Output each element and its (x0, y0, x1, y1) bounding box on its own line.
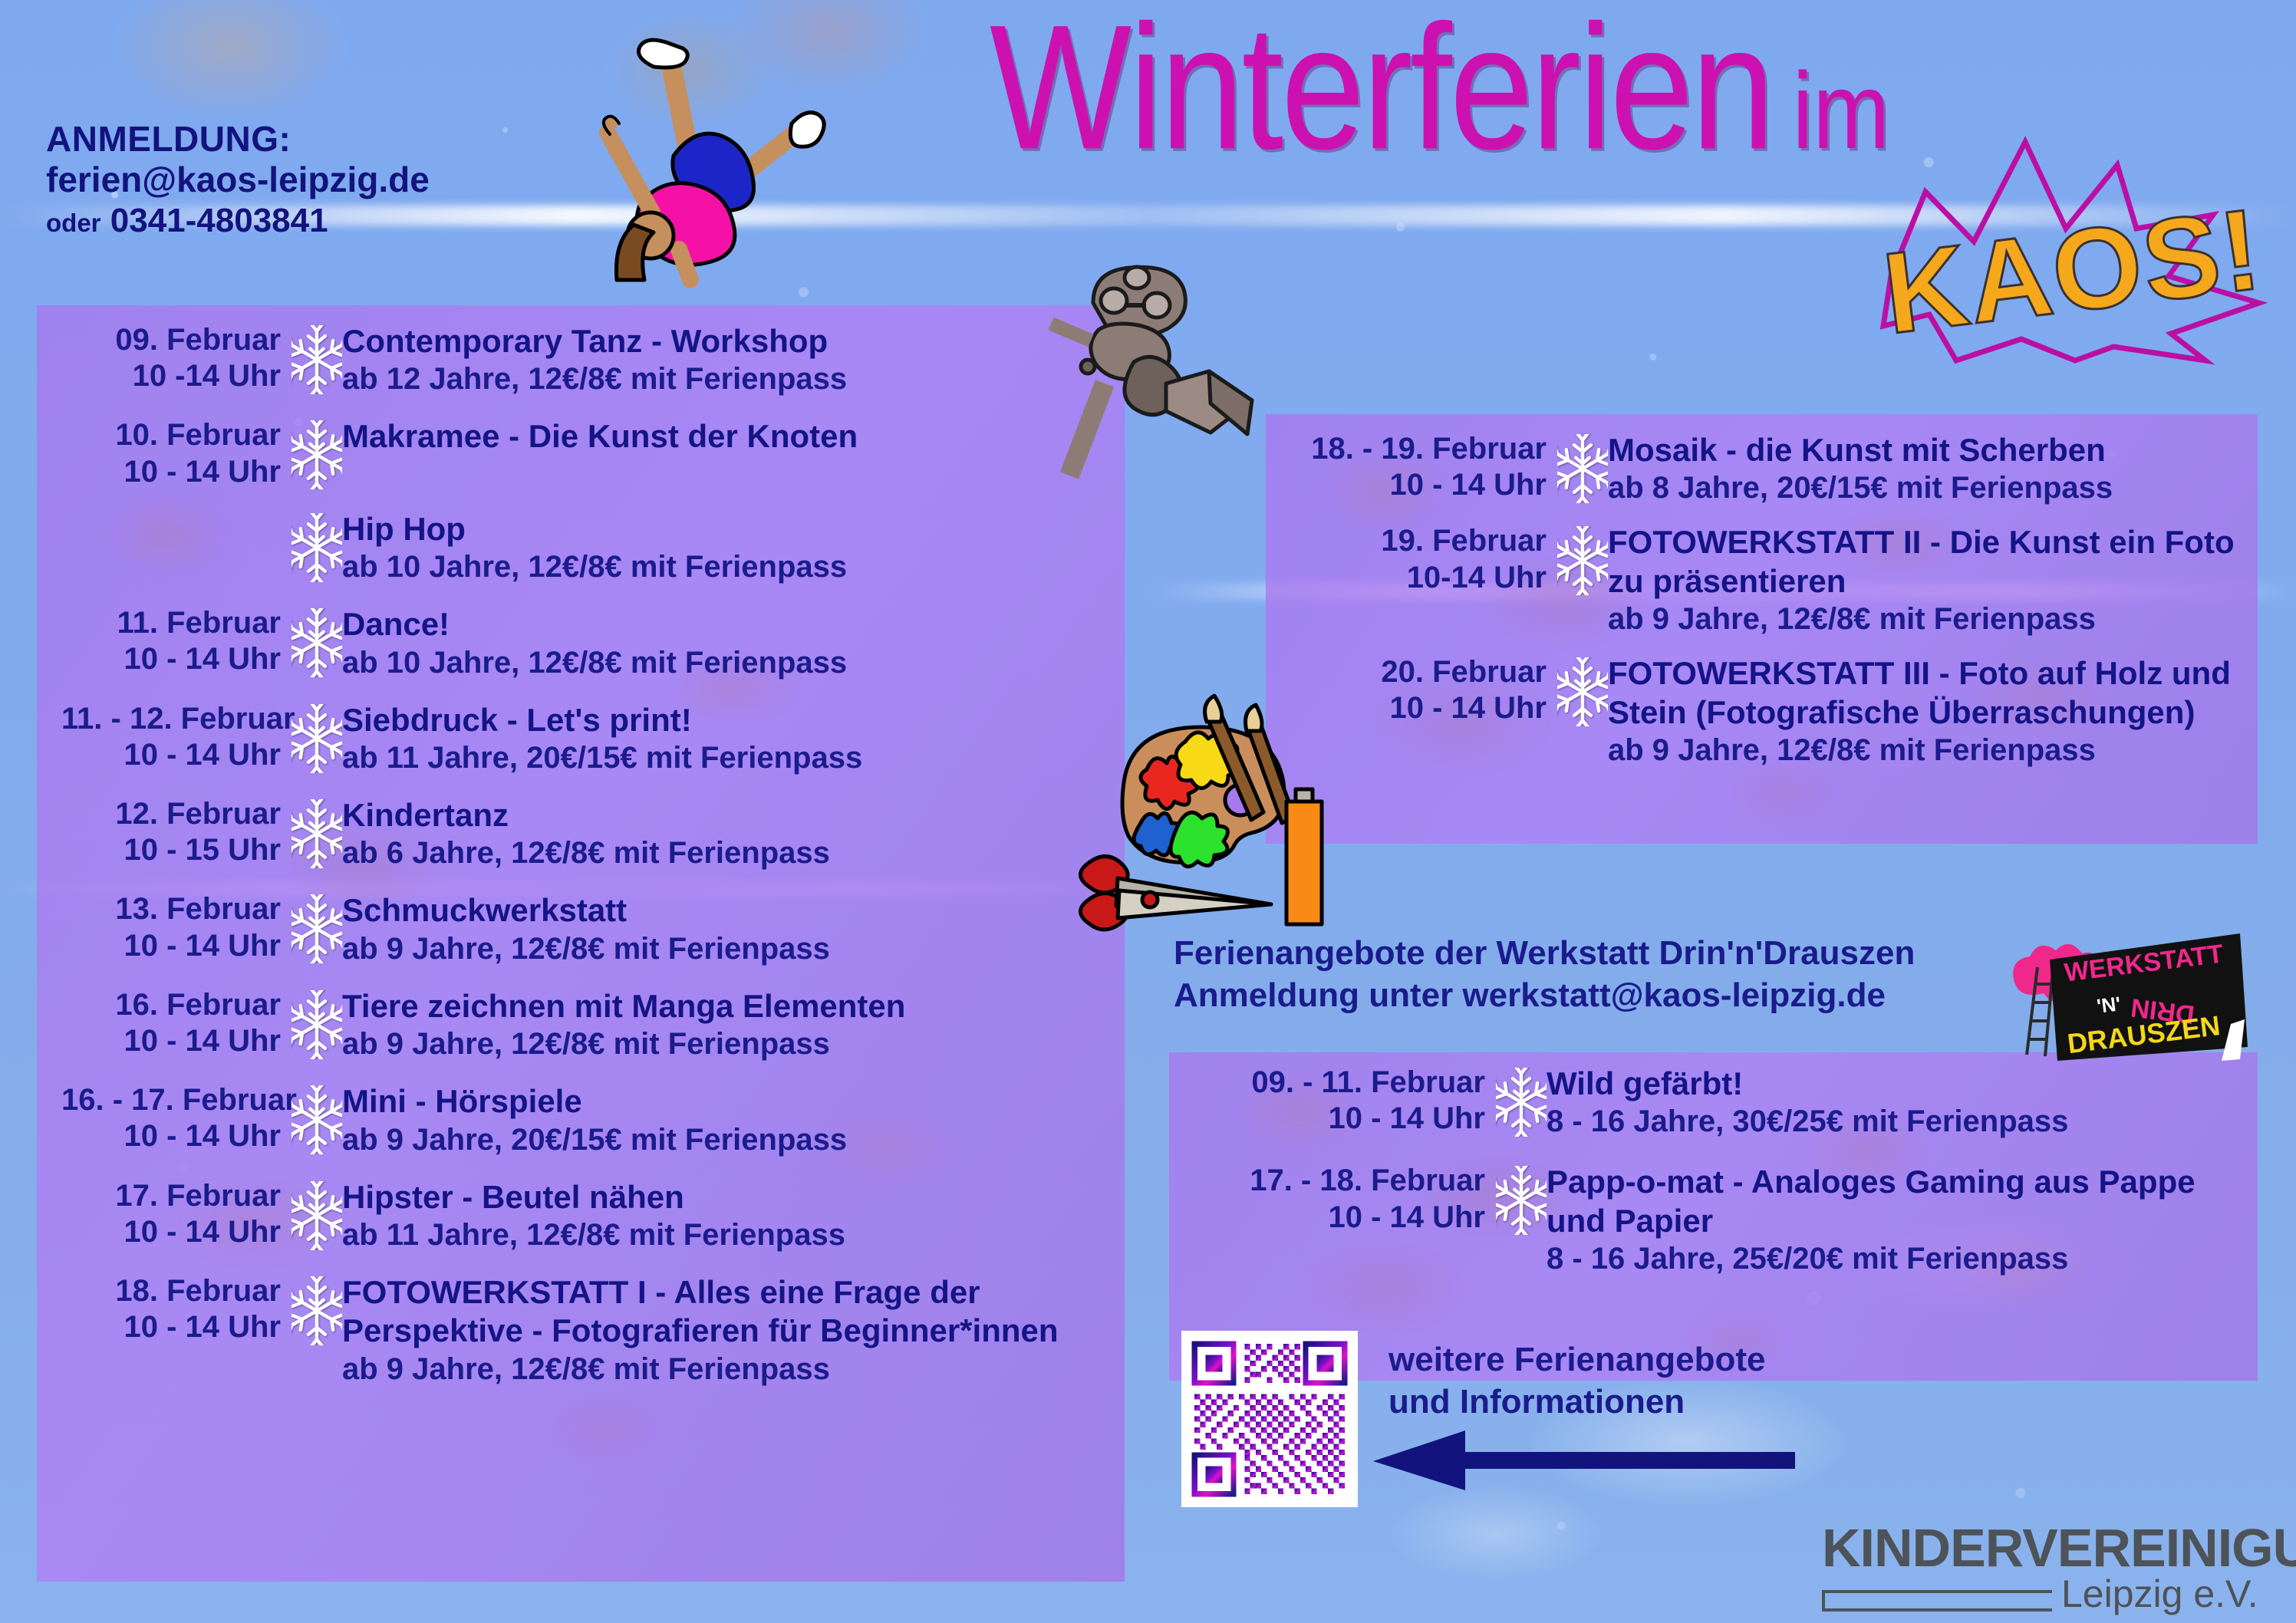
event-details: Mini - Hörspieleab 9 Jahre, 20€/15€ mit … (342, 1082, 1105, 1157)
event-time: 10 - 14 Uhr (61, 1023, 281, 1059)
event-time: 10 - 14 Uhr (1227, 1200, 1485, 1236)
event-time: 10 - 14 Uhr (61, 1214, 281, 1250)
event-date: 16. Februar (61, 987, 281, 1023)
event-details: Contemporary Tanz - Workshopab 12 Jahre,… (342, 322, 1105, 397)
event-when: 11. - 12. Februar10 - 14 Uhr (61, 701, 292, 773)
snowflake-icon (1496, 1068, 1547, 1137)
event-name: FOTOWERKSTATT III - Foto auf Holz und St… (1608, 654, 2255, 732)
kaos-logo-text: KAOS! (1877, 184, 2268, 358)
event-name: Siebdruck - Let's print! (342, 701, 1105, 739)
event-row: 13. Februar10 - 14 Uhr Schmuckwerkstatta… (61, 891, 1105, 966)
event-date: 18. - 19. Februar (1296, 431, 1547, 467)
qr-caption-line2: und Informationen (1388, 1381, 1765, 1423)
kindervereinigung-logo: KINDERVEREINIGUNG Leipzig e.V. (1822, 1523, 2282, 1611)
event-info: ab 9 Jahre, 12€/8€ mit Ferienpass (1608, 601, 2255, 637)
event-time: 10 - 14 Uhr (1296, 467, 1547, 503)
event-details: Hip Hopab 10 Jahre, 12€/8€ mit Ferienpas… (342, 510, 1105, 585)
werkstatt-logo-line3: 'N' (2096, 992, 2123, 1018)
event-info: ab 12 Jahre, 12€/8€ mit Ferienpass (342, 360, 1105, 397)
event-when: 20. Februar10 - 14 Uhr (1296, 654, 1557, 726)
event-info: 8 - 16 Jahre, 25€/20€ mit Ferienpass (1547, 1240, 2255, 1277)
arrow-left-icon (1365, 1423, 1795, 1492)
snowflake-icon (292, 799, 342, 868)
event-when: 09. Februar10 -14 Uhr (61, 322, 292, 394)
event-info: ab 9 Jahre, 20€/15€ mit Ferienpass (342, 1121, 1105, 1158)
event-when: 19. Februar10-14 Uhr (1296, 523, 1557, 595)
event-time: 10 -14 Uhr (61, 358, 281, 394)
event-date: 11. - 12. Februar (61, 701, 281, 737)
event-info: ab 9 Jahre, 12€/8€ mit Ferienpass (1608, 732, 2255, 769)
werkstatt-drin-n-drauszen-logo: WERKSTATT DRIN 'N' DRAUSZEN (2010, 932, 2248, 1062)
event-date: 16. - 17. Februar (61, 1082, 281, 1118)
event-row: 17. Februar10 - 14 Uhr Hipster - Beutel … (61, 1178, 1105, 1253)
event-info: ab 11 Jahre, 12€/8€ mit Ferienpass (342, 1216, 1105, 1253)
event-date: 09. - 11. Februar (1227, 1065, 1485, 1101)
kv-logo-bottom-row: Leipzig e.V. (1822, 1577, 2282, 1611)
event-name: Tiere zeichnen mit Manga Elementen (342, 987, 1105, 1025)
event-time: 10 - 14 Uhr (61, 1309, 281, 1345)
event-details: Tiere zeichnen mit Manga Elementenab 9 J… (342, 987, 1105, 1062)
snowflake-icon (292, 325, 342, 394)
event-row: 18. Februar10 - 14 Uhr FOTOWERKSTATT I -… (61, 1273, 1105, 1388)
snowflake-icon (292, 1181, 342, 1250)
snowflake-icon (292, 608, 342, 677)
event-date: 17. Februar (61, 1178, 281, 1214)
event-row: 16. Februar10 - 14 Uhr Tiere zeichnen mi… (61, 987, 1105, 1062)
event-name: Contemporary Tanz - Workshop (342, 322, 1105, 360)
snowflake-icon (1496, 1166, 1547, 1235)
event-time: 10 - 14 Uhr (61, 641, 281, 677)
snowflake-icon (292, 513, 342, 582)
event-info: ab 9 Jahre, 12€/8€ mit Ferienpass (342, 1025, 1105, 1062)
event-when: 13. Februar10 - 14 Uhr (61, 891, 292, 963)
event-date: 10. Februar (61, 417, 281, 453)
event-date: 09. Februar (61, 322, 281, 358)
event-details: Mosaik - die Kunst mit Scherbenab 8 Jahr… (1608, 431, 2255, 506)
event-time: 10 - 14 Uhr (61, 454, 281, 490)
snowflake-icon (292, 894, 342, 963)
event-row: 12. Februar10 - 15 Uhr Kindertanzab 6 Ja… (61, 796, 1105, 871)
event-time: 10 - 15 Uhr (61, 832, 281, 868)
qr-caption-line1: weitere Ferienangebote (1388, 1338, 1765, 1381)
right-bottom-event-list: 09. - 11. Februar10 - 14 Uhr Wild gefärb… (1227, 1065, 2255, 1300)
event-row: 11. Februar10 - 14 Uhr Dance!ab 10 Jahre… (61, 605, 1105, 680)
event-date: 12. Februar (61, 796, 281, 832)
snowflake-icon (292, 990, 342, 1059)
event-name: Papp-o-mat - Analoges Gaming aus Pappe u… (1547, 1163, 2255, 1240)
event-row: 11. - 12. Februar10 - 14 Uhr Siebdruck -… (61, 701, 1105, 776)
event-name: Mosaik - die Kunst mit Scherben (1608, 431, 2255, 469)
event-row: 09. Februar10 -14 Uhr Contemporary Tanz … (61, 322, 1105, 397)
werkstatt-heading-line2: Anmeldung unter werkstatt@kaos-leipzig.d… (1174, 974, 1915, 1016)
event-details: Siebdruck - Let's print!ab 11 Jahre, 20€… (342, 701, 1105, 776)
event-time: 10 - 14 Uhr (61, 1118, 281, 1154)
event-info: ab 10 Jahre, 12€/8€ mit Ferienpass (342, 644, 1105, 681)
event-date: 19. Februar (1296, 523, 1547, 559)
snowflake-icon (292, 1276, 342, 1345)
event-time: 10 - 14 Uhr (61, 737, 281, 773)
registration-block: ANMELDUNG: ferien@kaos-leipzig.de oder 0… (46, 119, 430, 240)
snowflake-icon (1557, 526, 1608, 595)
event-when: 11. Februar10 - 14 Uhr (61, 605, 292, 677)
event-when: 18. Februar10 - 14 Uhr (61, 1273, 292, 1345)
event-row: 16. - 17. Februar10 - 14 Uhr Mini - Hörs… (61, 1082, 1105, 1157)
kv-logo-top: KINDERVEREINIGUNG (1822, 1523, 2282, 1574)
event-details: Wild gefärbt!8 - 16 Jahre, 30€/25€ mit F… (1547, 1065, 2255, 1140)
snowflake-icon (292, 1085, 342, 1154)
registration-or-label: oder (46, 209, 101, 237)
event-date: 11. Februar (61, 605, 281, 641)
event-info: ab 6 Jahre, 12€/8€ mit Ferienpass (342, 835, 1105, 871)
event-when: 16. Februar10 - 14 Uhr (61, 987, 292, 1059)
event-time: 10-14 Uhr (1296, 560, 1547, 596)
snowflake-icon (1557, 434, 1608, 503)
event-time: 10 - 14 Uhr (1296, 690, 1547, 726)
event-date: 13. Februar (61, 891, 281, 927)
cartwheel-girl-illustration (598, 19, 867, 280)
event-name: FOTOWERKSTATT II - Die Kunst ein Foto zu… (1608, 523, 2255, 601)
event-date: 17. - 18. Februar (1227, 1163, 1485, 1199)
qr-code-icon[interactable] (1181, 1331, 1358, 1507)
event-row: 10. Februar10 - 14 Uhr Makramee - Die Ku… (61, 417, 1105, 489)
event-details: FOTOWERKSTATT I - Alles eine Frage der P… (342, 1273, 1105, 1388)
event-when: 10. Februar10 - 14 Uhr (61, 417, 292, 489)
registration-heading: ANMELDUNG: (46, 119, 430, 160)
event-name: Mini - Hörspiele (342, 1082, 1105, 1121)
event-info: ab 9 Jahre, 12€/8€ mit Ferienpass (342, 930, 1105, 967)
event-details: FOTOWERKSTATT III - Foto auf Holz und St… (1608, 654, 2255, 769)
event-date: 20. Februar (1296, 654, 1547, 690)
event-details: Kindertanzab 6 Jahre, 12€/8€ mit Ferienp… (342, 796, 1105, 871)
event-row: 20. Februar10 - 14 Uhr FOTOWERKSTATT III… (1296, 654, 2255, 769)
title-main: Winterferien (990, 3, 1773, 172)
event-details: FOTOWERKSTATT II - Die Kunst ein Foto zu… (1608, 523, 2255, 637)
kv-logo-bottom: Leipzig e.V. (2061, 1577, 2258, 1611)
snowflake-icon (292, 420, 342, 489)
event-info: ab 11 Jahre, 20€/15€ mit Ferienpass (342, 739, 1105, 776)
registration-phone[interactable]: 0341-4803841 (110, 202, 328, 239)
event-time: 10 - 14 Uhr (1227, 1101, 1485, 1137)
event-when: 12. Februar10 - 15 Uhr (61, 796, 292, 868)
event-row: 17. - 18. Februar10 - 14 Uhr Papp-o-mat … (1227, 1163, 2255, 1277)
event-row: 09. - 11. Februar10 - 14 Uhr Wild gefärb… (1227, 1065, 2255, 1140)
event-info: 8 - 16 Jahre, 30€/25€ mit Ferienpass (1547, 1103, 2255, 1140)
event-time: 10 - 14 Uhr (61, 928, 281, 964)
event-details: Hipster - Beutel nähenab 11 Jahre, 12€/8… (342, 1178, 1105, 1253)
event-name: Makramee - Die Kunst der Knoten (342, 417, 1105, 456)
title-suffix: im (1793, 48, 1890, 173)
poster-root: ANMELDUNG: ferien@kaos-leipzig.de oder 0… (0, 0, 2296, 1623)
qr-caption: weitere Ferienangebote und Informationen (1388, 1338, 1765, 1423)
event-name: Dance! (342, 605, 1105, 644)
event-name: Schmuckwerkstatt (342, 891, 1105, 930)
event-name: Kindertanz (342, 796, 1105, 835)
snowflake-icon (292, 704, 342, 773)
left-event-list: 09. Februar10 -14 Uhr Contemporary Tanz … (61, 322, 1105, 1407)
event-details: Schmuckwerkstattab 9 Jahre, 12€/8€ mit F… (342, 891, 1105, 966)
event-row: 19. Februar10-14 Uhr FOTOWERKSTATT II - … (1296, 523, 2255, 637)
event-info: ab 8 Jahre, 20€/15€ mit Ferienpass (1608, 469, 2255, 506)
kv-logo-bar (1822, 1590, 2052, 1611)
event-info: ab 9 Jahre, 12€/8€ mit Ferienpass (342, 1351, 1105, 1388)
art-supplies-illustration (1070, 686, 1331, 947)
snowflake-icon (1557, 657, 1608, 726)
event-name: FOTOWERKSTATT I - Alles eine Frage der P… (342, 1273, 1105, 1351)
registration-phone-line: oder 0341-4803841 (46, 201, 430, 240)
event-date: 18. Februar (61, 1273, 281, 1309)
event-when: 09. - 11. Februar10 - 14 Uhr (1227, 1065, 1496, 1137)
event-when: 17. Februar10 - 14 Uhr (61, 1178, 292, 1250)
event-when: 17. - 18. Februar10 - 14 Uhr (1227, 1163, 1496, 1235)
event-details: Dance!ab 10 Jahre, 12€/8€ mit Ferienpass (342, 605, 1105, 680)
registration-email[interactable]: ferien@kaos-leipzig.de (46, 160, 430, 200)
event-info: ab 10 Jahre, 12€/8€ mit Ferienpass (342, 548, 1105, 585)
event-row: 18. - 19. Februar10 - 14 Uhr Mosaik - di… (1296, 431, 2255, 506)
event-when: 16. - 17. Februar10 - 14 Uhr (61, 1082, 292, 1154)
event-row: Hip Hopab 10 Jahre, 12€/8€ mit Ferienpas… (61, 510, 1105, 585)
robot-illustration (1051, 245, 1296, 476)
page-title: Winterferienim (990, 29, 1889, 173)
event-details: Papp-o-mat - Analoges Gaming aus Pappe u… (1547, 1163, 2255, 1277)
event-name: Hipster - Beutel nähen (342, 1178, 1105, 1216)
event-details: Makramee - Die Kunst der Knoten (342, 417, 1105, 456)
event-name: Hip Hop (342, 510, 1105, 548)
right-top-event-list: 18. - 19. Februar10 - 14 Uhr Mosaik - di… (1296, 431, 2255, 785)
event-name: Wild gefärbt! (1547, 1065, 2255, 1103)
event-when: 18. - 19. Februar10 - 14 Uhr (1296, 431, 1557, 503)
kaos-logo: KAOS! (1883, 138, 2267, 360)
